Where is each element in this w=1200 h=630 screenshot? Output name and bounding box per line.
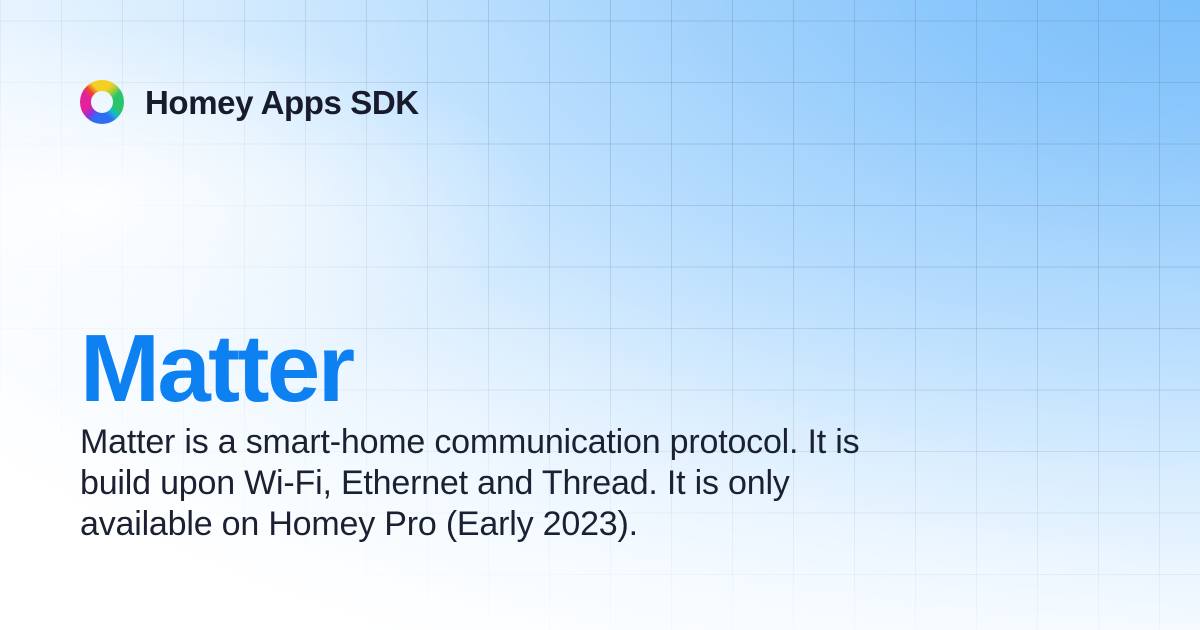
brand-lockup: Homey Apps SDK [80,80,419,124]
card-content: Homey Apps SDK Matter Matter is a smart-… [0,0,1200,630]
brand-name-label: Homey Apps SDK [145,86,419,119]
homey-ring-logo-icon [80,80,124,124]
page-title: Matter [80,321,352,417]
og-card: Homey Apps SDK Matter Matter is a smart-… [0,0,1200,630]
page-description: Matter is a smart-home communication pro… [80,422,880,545]
